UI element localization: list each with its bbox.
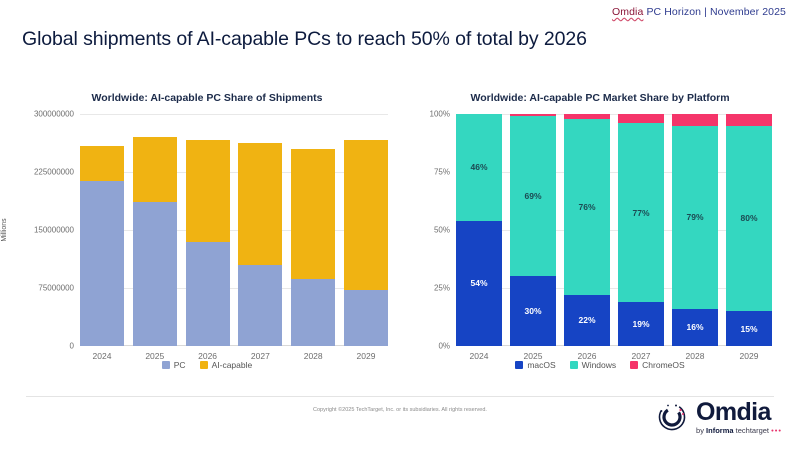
bar-segment-chromeos[interactable] bbox=[618, 114, 664, 123]
plot-wrapper-platform: 0%25%50%75%100%46%54%69%30%76%22%77%19%7… bbox=[412, 114, 788, 346]
y-axis-tick-label: 50% bbox=[434, 226, 456, 235]
bar-column-2027[interactable]: 77%19% bbox=[618, 114, 664, 346]
bar-column-2028[interactable]: 79%16% bbox=[672, 114, 718, 346]
bar-segment-ai-capable[interactable] bbox=[133, 137, 177, 202]
bar-segment-pc[interactable] bbox=[186, 242, 230, 346]
x-axis: 202420252026202720282029 bbox=[456, 346, 772, 361]
plot-area-shipments: 0750000001500000002250000003000000002024… bbox=[80, 114, 388, 346]
y-axis-caption-shipments: Millions bbox=[1, 218, 8, 241]
bar-column-2028[interactable] bbox=[291, 114, 335, 346]
tagline-techtarget: techtarget bbox=[734, 426, 769, 435]
bar-value-label: 16% bbox=[672, 322, 718, 332]
bar-segment-macos[interactable]: 30% bbox=[510, 276, 556, 346]
chart-panel-shipments: Worldwide: AI-capable PC Share of Shipme… bbox=[18, 92, 396, 346]
bar-segment-windows[interactable]: 76% bbox=[564, 119, 610, 295]
tagline-by: by bbox=[696, 426, 706, 435]
kicker-rest: PC Horizon | November 2025 bbox=[643, 6, 786, 18]
bar-group: 46%54%69%30%76%22%77%19%79%16%80%15% bbox=[456, 114, 772, 346]
legend-item-pc[interactable]: PC bbox=[162, 360, 186, 370]
bar-segment-ai-capable[interactable] bbox=[291, 149, 335, 279]
chart-panel-platform: Worldwide: AI-capable PC Market Share by… bbox=[412, 92, 788, 346]
x-axis: 202420252026202720282029 bbox=[80, 346, 388, 361]
bar-segment-ai-capable[interactable] bbox=[238, 143, 282, 265]
bar-segment-macos[interactable]: 54% bbox=[456, 221, 502, 346]
y-axis-tick-label: 300000000 bbox=[34, 110, 80, 119]
bar-segment-windows[interactable]: 79% bbox=[672, 126, 718, 309]
bar-segment-pc[interactable] bbox=[291, 279, 335, 346]
bar-segment-windows[interactable]: 80% bbox=[726, 126, 772, 312]
bar-value-label: 76% bbox=[564, 202, 610, 212]
y-axis-tick-label: 0% bbox=[438, 342, 456, 351]
bar-group bbox=[80, 114, 388, 346]
y-axis-tick-label: 0 bbox=[70, 342, 80, 351]
bar-segment-chromeos[interactable] bbox=[672, 114, 718, 126]
omdia-tagline: by Informa techtarget ••• bbox=[696, 427, 782, 435]
y-axis-tick-label: 75000000 bbox=[38, 284, 80, 293]
legend-label: macOS bbox=[527, 360, 555, 370]
chart-legend-shipments: PCAI-capable bbox=[18, 360, 396, 370]
bar-segment-ai-capable[interactable] bbox=[80, 146, 124, 182]
bar-segment-windows[interactable]: 69% bbox=[510, 116, 556, 276]
legend-item-windows[interactable]: Windows bbox=[570, 360, 616, 370]
bar-segment-pc[interactable] bbox=[80, 181, 124, 346]
bar-segment-windows[interactable]: 77% bbox=[618, 123, 664, 302]
y-axis-tick-label: 25% bbox=[434, 284, 456, 293]
kicker-brand: Omdia bbox=[612, 6, 643, 18]
legend-swatch bbox=[515, 361, 523, 369]
page-title: Global shipments of AI-capable PCs to re… bbox=[22, 28, 587, 51]
legend-label: AI-capable bbox=[212, 360, 253, 370]
bar-value-label: 15% bbox=[726, 324, 772, 334]
chart-title-platform: Worldwide: AI-capable PC Market Share by… bbox=[412, 92, 788, 104]
legend-swatch bbox=[162, 361, 170, 369]
bar-segment-chromeos[interactable] bbox=[726, 114, 772, 126]
bar-value-label: 77% bbox=[618, 208, 664, 218]
y-axis-tick-label: 75% bbox=[434, 168, 456, 177]
omdia-wordmark: Omdia bbox=[696, 400, 782, 425]
bar-segment-pc[interactable] bbox=[238, 265, 282, 346]
legend-label: Windows bbox=[582, 360, 616, 370]
omdia-swirl-icon bbox=[655, 400, 689, 434]
omdia-logo-text: Omdia by Informa techtarget ••• bbox=[696, 400, 782, 435]
bar-value-label: 79% bbox=[672, 212, 718, 222]
y-axis-tick-label: 225000000 bbox=[34, 168, 80, 177]
omdia-logo: Omdia by Informa techtarget ••• bbox=[655, 400, 782, 435]
bar-column-2029[interactable] bbox=[344, 114, 388, 346]
bar-segment-macos[interactable]: 19% bbox=[618, 302, 664, 346]
chart-legend-platform: macOSWindowsChromeOS bbox=[412, 360, 788, 370]
bar-column-2026[interactable] bbox=[186, 114, 230, 346]
tagline-informa: Informa bbox=[706, 426, 734, 435]
legend-label: ChromeOS bbox=[642, 360, 685, 370]
bar-segment-macos[interactable]: 15% bbox=[726, 311, 772, 346]
slide-canvas: Omdia PC Horizon | November 2025 Global … bbox=[0, 0, 800, 452]
bar-column-2024[interactable] bbox=[80, 114, 124, 346]
bar-segment-pc[interactable] bbox=[344, 290, 388, 346]
bar-column-2025[interactable] bbox=[133, 114, 177, 346]
bar-value-label: 19% bbox=[618, 319, 664, 329]
bar-segment-pc[interactable] bbox=[133, 202, 177, 346]
bar-segment-macos[interactable]: 22% bbox=[564, 295, 610, 346]
legend-item-chromeos[interactable]: ChromeOS bbox=[630, 360, 685, 370]
bar-value-label: 80% bbox=[726, 213, 772, 223]
chart-title-shipments: Worldwide: AI-capable PC Share of Shipme… bbox=[18, 92, 396, 104]
bar-column-2025[interactable]: 69%30% bbox=[510, 114, 556, 346]
bar-segment-macos[interactable]: 16% bbox=[672, 309, 718, 346]
bar-value-label: 30% bbox=[510, 306, 556, 316]
bar-column-2029[interactable]: 80%15% bbox=[726, 114, 772, 346]
bar-segment-ai-capable[interactable] bbox=[186, 140, 230, 241]
plot-area-platform: 0%25%50%75%100%46%54%69%30%76%22%77%19%7… bbox=[456, 114, 772, 346]
bar-segment-windows[interactable]: 46% bbox=[456, 114, 502, 221]
bar-value-label: 54% bbox=[456, 278, 502, 288]
slide-kicker: Omdia PC Horizon | November 2025 bbox=[612, 6, 786, 18]
bar-column-2026[interactable]: 76%22% bbox=[564, 114, 610, 346]
legend-swatch bbox=[200, 361, 208, 369]
footer-divider bbox=[26, 396, 774, 397]
bar-value-label: 69% bbox=[510, 191, 556, 201]
y-axis-tick-label: 150000000 bbox=[34, 226, 80, 235]
bar-segment-ai-capable[interactable] bbox=[344, 140, 388, 290]
legend-item-ai-capable[interactable]: AI-capable bbox=[200, 360, 253, 370]
y-axis-tick-label: 100% bbox=[430, 110, 456, 119]
tagline-dots: ••• bbox=[771, 426, 782, 435]
legend-item-macos[interactable]: macOS bbox=[515, 360, 555, 370]
plot-wrapper-shipments: Millions 0750000001500000002250000003000… bbox=[18, 114, 396, 346]
bar-column-2027[interactable] bbox=[238, 114, 282, 346]
legend-swatch bbox=[630, 361, 638, 369]
legend-label: PC bbox=[174, 360, 186, 370]
legend-swatch bbox=[570, 361, 578, 369]
bar-value-label: 46% bbox=[456, 162, 502, 172]
bar-value-label: 22% bbox=[564, 315, 610, 325]
bar-column-2024[interactable]: 46%54% bbox=[456, 114, 502, 346]
